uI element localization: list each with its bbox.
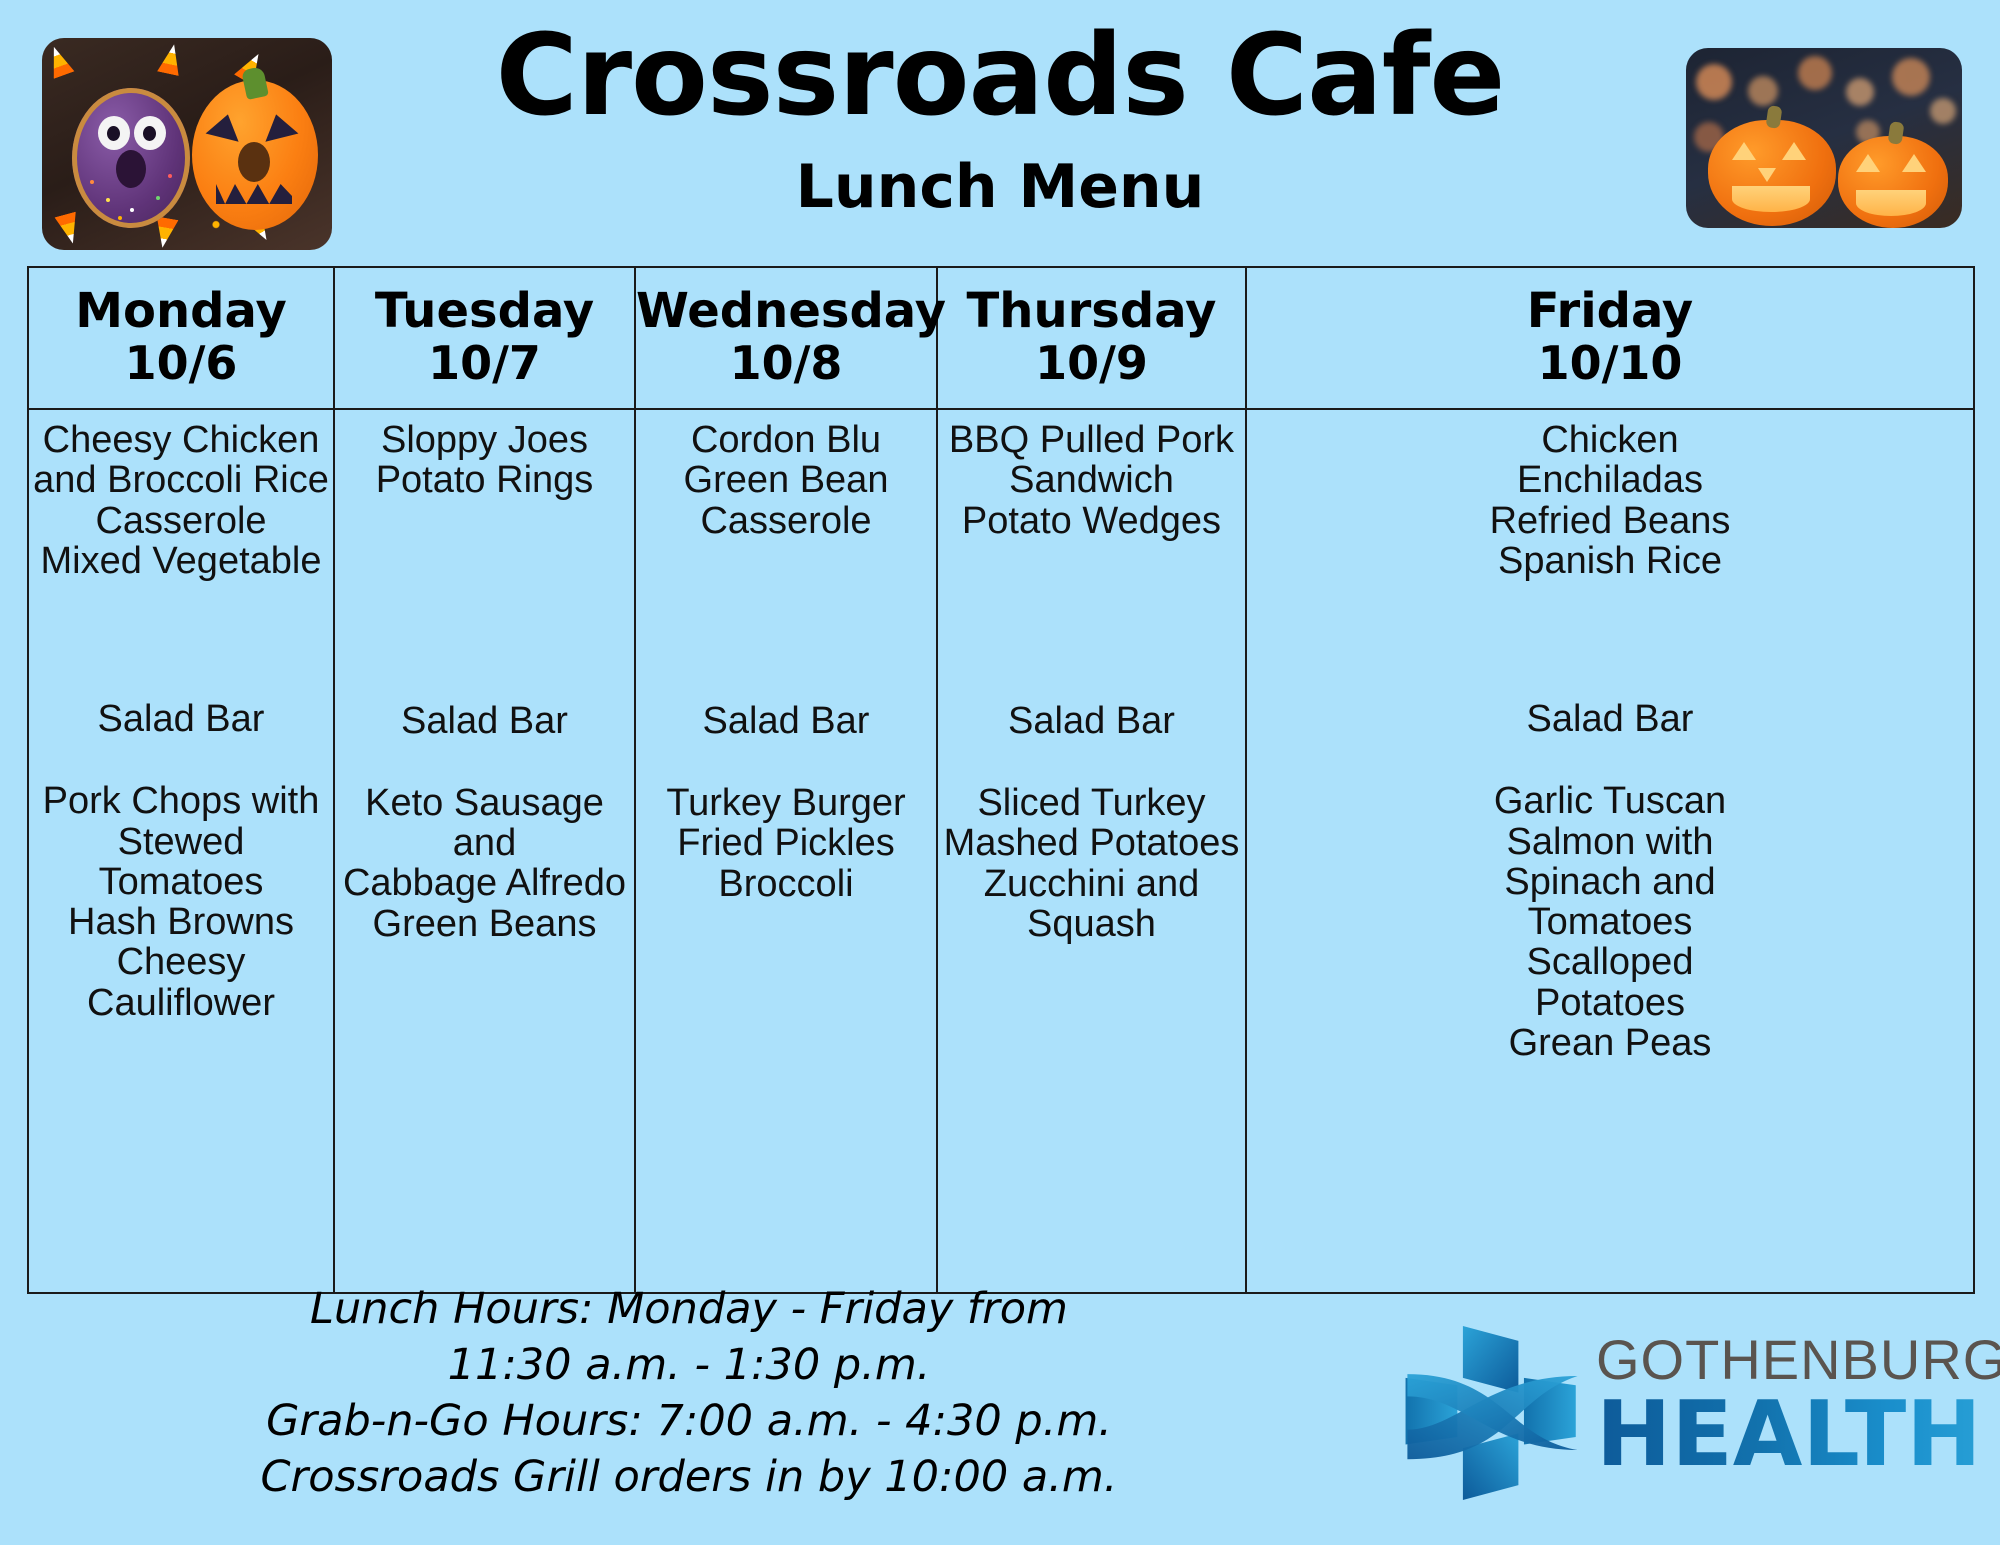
jack-o-lantern-icon	[1708, 120, 1836, 226]
table-header-row: Monday 10/6 Tuesday 10/7 Wednesday 10/8 …	[28, 267, 1974, 409]
day-cell-thursday: BBQ Pulled Pork Sandwich Potato Wedges S…	[937, 409, 1246, 1293]
weekly-menu-table: Monday 10/6 Tuesday 10/7 Wednesday 10/8 …	[27, 266, 1975, 1294]
day-header-friday: Friday 10/10	[1246, 267, 1974, 409]
bokeh-light-icon	[1892, 58, 1930, 96]
bokeh-light-icon	[1930, 98, 1956, 124]
poster-header: Crossroads Cafe Lunch Menu	[0, 0, 2000, 258]
gothenburg-logo-mark-icon	[1400, 1318, 1585, 1508]
pumpkin-stem-icon	[1765, 105, 1782, 129]
table-body-row: Cheesy Chicken and Broccoli Rice Cassero…	[28, 409, 1974, 1293]
spacer	[640, 541, 932, 701]
logo-wordmark: GOTHENBURG HEALTH	[1596, 1332, 2000, 1478]
day-header-monday: Monday 10/6	[28, 267, 334, 409]
spacer	[339, 501, 630, 701]
logo-top-text: GOTHENBURG	[1596, 1332, 2000, 1388]
logo-bottom-text: HEALTH	[1596, 1392, 2000, 1478]
salad-bar-text: Salad Bar	[640, 701, 932, 741]
pumpkin-stem-icon	[1887, 121, 1904, 145]
spacer	[942, 741, 1241, 783]
day-cell-tuesday: Sloppy Joes Potato Rings Salad Bar Keto …	[334, 409, 635, 1293]
jack-o-lantern-eye-icon	[1782, 142, 1806, 160]
menu-poster: Crossroads Cafe Lunch Menu	[0, 0, 2000, 1545]
entree-text: Sloppy Joes Potato Rings	[339, 420, 630, 501]
day-name-label: Monday	[29, 286, 333, 338]
spacer	[33, 581, 329, 699]
day-name-label: Thursday	[938, 286, 1245, 338]
day-cell-wednesday: Cordon Blu Green Bean Casserole Salad Ba…	[635, 409, 937, 1293]
alternate-entree-text: Keto Sausage and Cabbage Alfredo Green B…	[339, 783, 630, 944]
entree-text: BBQ Pulled Pork Sandwich Potato Wedges	[942, 420, 1241, 541]
jack-o-lantern-mouth-icon	[1856, 190, 1926, 216]
jack-o-lantern-eye-icon	[1732, 142, 1756, 160]
day-date-label: 10/8	[636, 338, 936, 390]
day-header-thursday: Thursday 10/9	[937, 267, 1246, 409]
spacer	[942, 541, 1241, 701]
day-header-wednesday: Wednesday 10/8	[635, 267, 937, 409]
spacer	[1251, 739, 1969, 781]
hours-notes: Lunch Hours: Monday - Friday from 11:30 …	[24, 1282, 1354, 1506]
spacer	[1251, 581, 1969, 699]
bokeh-light-icon	[1798, 56, 1832, 90]
day-date-label: 10/6	[29, 338, 333, 390]
alternate-entree-text: Garlic Tuscan Salmon with Spinach and To…	[1251, 781, 1969, 1063]
salad-bar-text: Salad Bar	[942, 701, 1241, 741]
gothenburg-health-logo: GOTHENBURG HEALTH	[1400, 1310, 1980, 1515]
jack-o-lantern-eye-icon	[1902, 154, 1926, 172]
jack-o-lanterns-image	[1686, 48, 1962, 228]
day-cell-monday: Cheesy Chicken and Broccoli Rice Cassero…	[28, 409, 334, 1293]
alternate-entree-text: Pork Chops with Stewed Tomatoes Hash Bro…	[33, 781, 329, 1023]
entree-text: Cordon Blu Green Bean Casserole	[640, 420, 932, 541]
day-cell-friday: Chicken Enchiladas Refried Beans Spanish…	[1246, 409, 1974, 1293]
day-name-label: Friday	[1247, 286, 1973, 338]
jack-o-lantern-mouth-icon	[1732, 186, 1810, 212]
spacer	[33, 739, 329, 781]
entree-text: Chicken Enchiladas Refried Beans Spanish…	[1251, 420, 1969, 581]
spacer	[339, 741, 630, 783]
bokeh-light-icon	[1846, 78, 1874, 106]
jack-o-lantern-icon	[1838, 136, 1948, 228]
jack-o-lantern-eye-icon	[1856, 154, 1880, 172]
entree-text: Cheesy Chicken and Broccoli Rice Cassero…	[33, 420, 329, 581]
jack-o-lantern-nose-icon	[1758, 168, 1776, 182]
salad-bar-text: Salad Bar	[1251, 699, 1969, 739]
alternate-entree-text: Sliced Turkey Mashed Potatoes Zucchini a…	[942, 783, 1241, 944]
alternate-entree-text: Turkey Burger Fried Pickles Broccoli	[640, 783, 932, 904]
day-date-label: 10/9	[938, 338, 1245, 390]
bokeh-light-icon	[1696, 64, 1732, 100]
spacer	[640, 741, 932, 783]
day-date-label: 10/7	[335, 338, 634, 390]
salad-bar-text: Salad Bar	[339, 701, 630, 741]
day-name-label: Tuesday	[335, 286, 634, 338]
day-date-label: 10/10	[1247, 338, 1973, 390]
bokeh-light-icon	[1748, 76, 1778, 106]
day-header-tuesday: Tuesday 10/7	[334, 267, 635, 409]
day-name-label: Wednesday	[636, 286, 936, 338]
salad-bar-text: Salad Bar	[33, 699, 329, 739]
